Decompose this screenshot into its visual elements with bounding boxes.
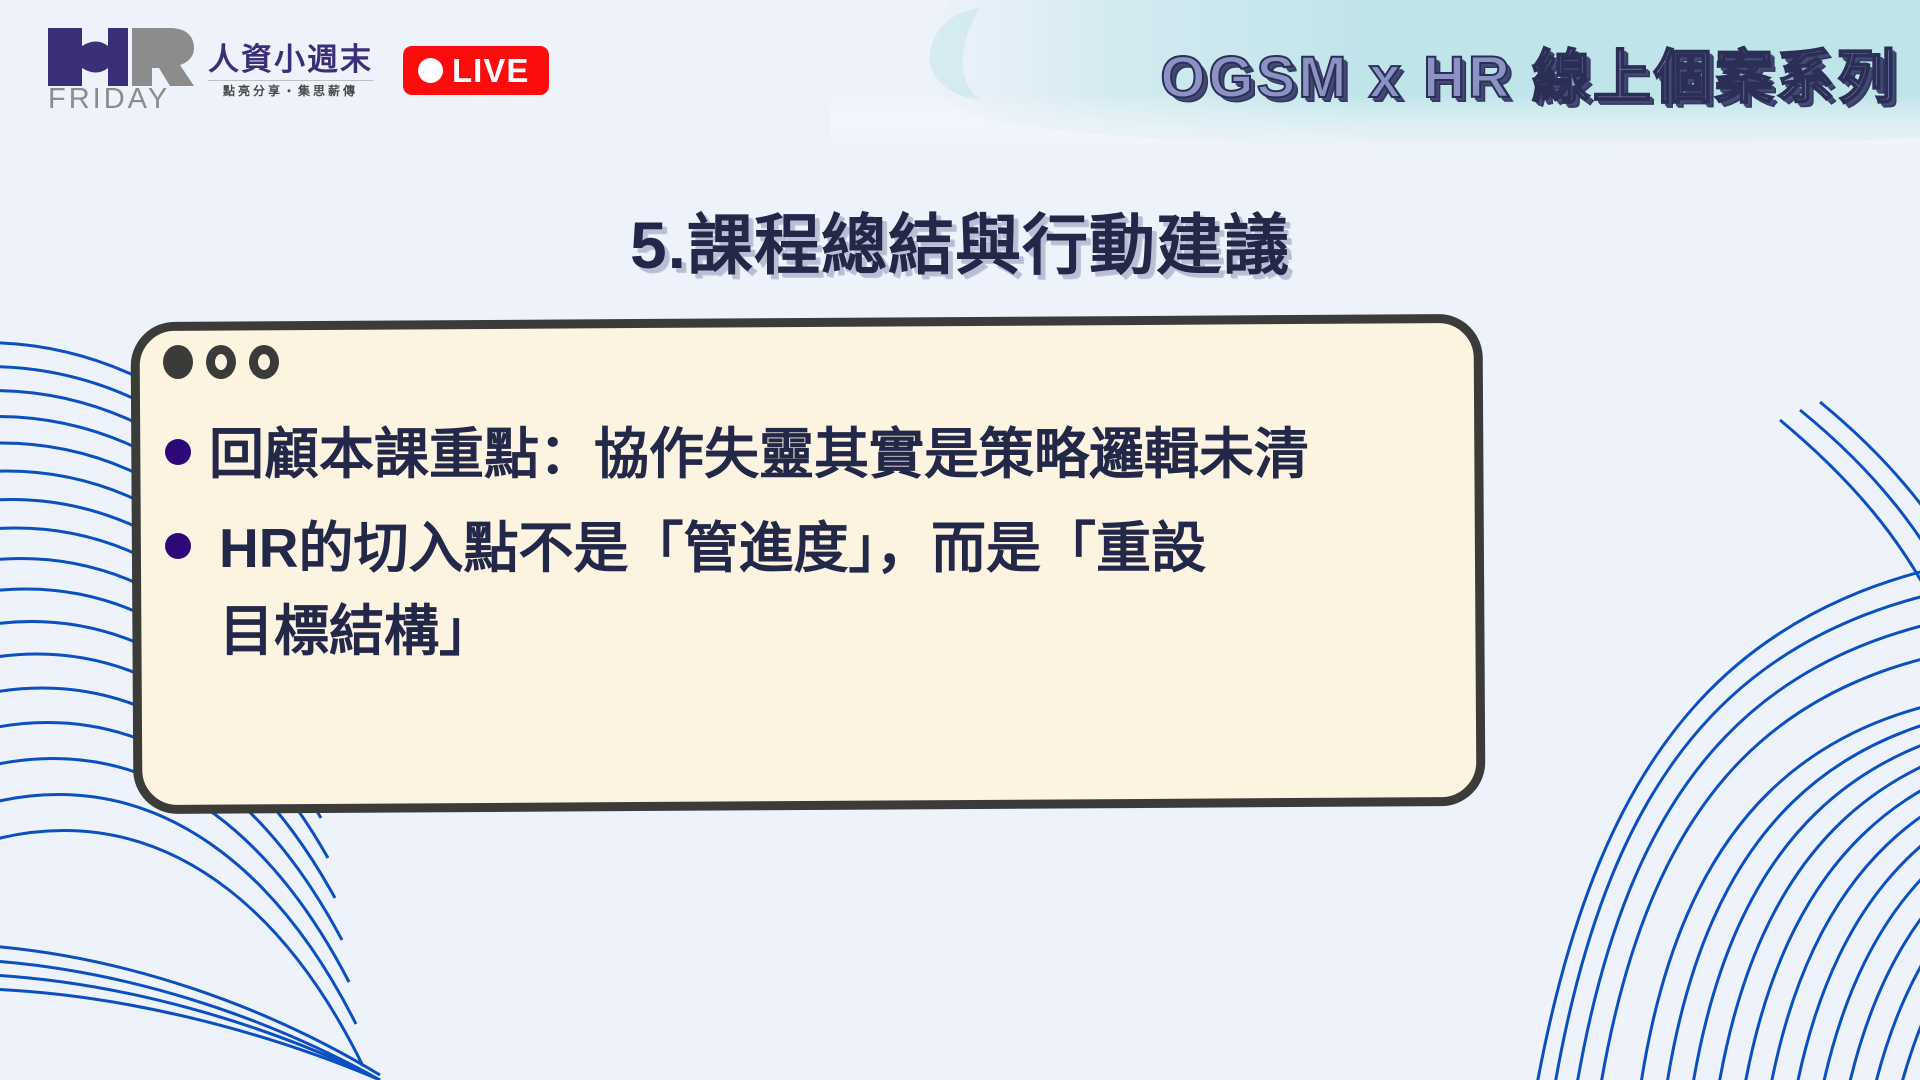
bullet-point-icon [165, 533, 191, 559]
maximize-dot-icon [249, 345, 279, 379]
banner-title: OGSM x HR 線上個案系列 [1160, 30, 1898, 114]
banner: OGSM x HR 線上個案系列 [830, 0, 1920, 152]
hr-monogram-icon [46, 26, 194, 88]
brand-cn-main: 人資小週末 [208, 44, 373, 75]
bullet-text-2-line-2: 目標結構」 [219, 600, 494, 662]
minimize-dot-icon [206, 345, 236, 379]
window-dots [163, 345, 279, 379]
content-card: 回顧本課重點：協作失靈其實是策略邏輯未清 HR的切入點不是「管進度」，而是「重設… [131, 314, 1486, 814]
record-dot-icon [418, 58, 443, 83]
logo-wordmark: FRIDAY [48, 85, 170, 114]
live-label: LIVE [452, 54, 529, 87]
bullet-text-2-line-1: HR的切入點不是「管進度」，而是「重設 [219, 517, 1206, 579]
brand-cn-tagline: 點亮分享・集思薪傳 [223, 85, 358, 97]
bullet-text-1: 回顧本課重點：協作失靈其實是策略邏輯未清 [209, 413, 1309, 497]
list-item: 回顧本課重點：協作失靈其實是策略邏輯未清 [151, 413, 1451, 497]
list-item: HR的切入點不是「管進度」，而是「重設 目標結構」 [151, 507, 1451, 674]
page-title: 5.課程總結與行動建議 [0, 192, 1920, 288]
background-decor-lines-right [1480, 0, 1920, 1080]
brand-divider [208, 80, 373, 81]
bullet-list: 回顧本課重點：協作失靈其實是策略邏輯未清 HR的切入點不是「管進度」，而是「重設… [151, 413, 1451, 684]
brand-logo: FRIDAY 人資小週末 點亮分享・集思薪傳 LIVE [46, 26, 549, 114]
slide-canvas: OGSM x HR 線上個案系列 FRIDAY 人資小週末 點亮分享・集思薪傳 … [0, 0, 1920, 1080]
close-dot-icon [163, 345, 193, 379]
hr-friday-logo: FRIDAY [46, 26, 194, 114]
bullet-point-icon [165, 439, 191, 465]
live-badge[interactable]: LIVE [403, 46, 549, 95]
brand-chinese-name: 人資小週末 點亮分享・集思薪傳 [208, 44, 373, 97]
